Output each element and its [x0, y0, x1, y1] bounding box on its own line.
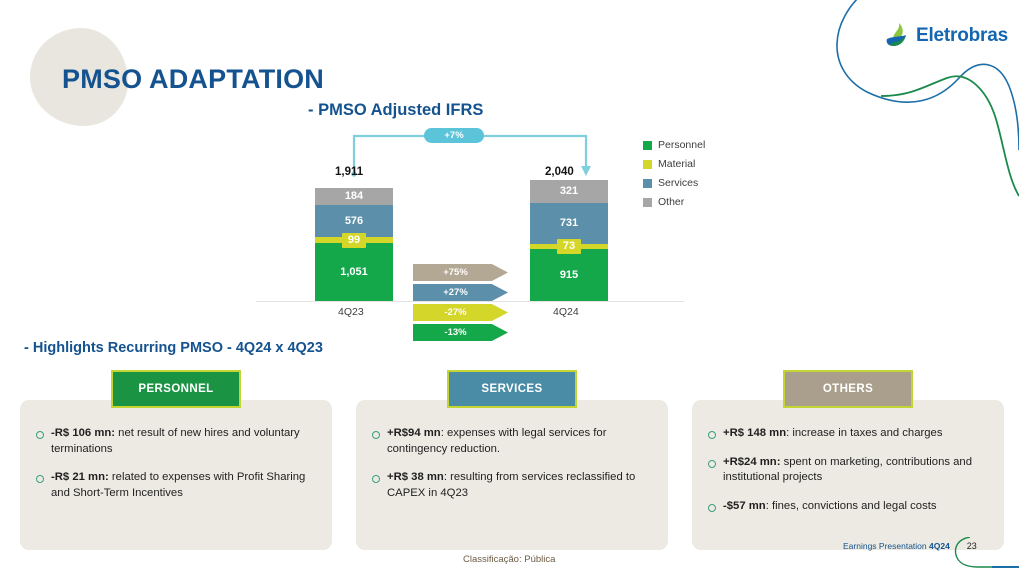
highlights-title: - Highlights Recurring PMSO - 4Q24 x 4Q2…	[24, 340, 323, 356]
bar-value-other-4q23: 184	[339, 189, 369, 204]
delta-value-material: -27%	[444, 307, 466, 318]
legend-swatch-material	[643, 160, 652, 169]
card-header-services: SERVICES	[447, 370, 577, 408]
bullet-circle-icon	[708, 504, 716, 512]
list-item: +R$24 mn: spent on marketing, contributi…	[708, 455, 986, 486]
delta-arrow-material: -27%	[413, 304, 508, 321]
bar-value-personnel-4q24: 915	[560, 270, 578, 281]
delta-arrows: +75% +27% -27% -13%	[413, 264, 508, 344]
legend-item-material: Material	[643, 158, 705, 170]
delta-arrow-personnel: -13%	[413, 324, 508, 341]
bullet-text: +R$94 mn: expenses with legal services f…	[387, 426, 650, 457]
legend-label-other: Other	[658, 196, 684, 208]
total-label-4q23: 1,911	[335, 166, 363, 178]
legend-label-personnel: Personnel	[658, 139, 705, 151]
list-item: +R$94 mn: expenses with legal services f…	[372, 426, 650, 457]
bar-value-material-4q24: 73	[557, 239, 581, 254]
bar-4q24: 321 731 73 915	[530, 180, 608, 301]
bullet-lead: +R$94 mn	[387, 427, 441, 439]
chart-plot-area: 184 576 99 1,051 321 731 73 915	[250, 186, 690, 301]
chart-legend: Personnel Material Services Other	[643, 139, 705, 215]
bullet-text: +R$24 mn: spent on marketing, contributi…	[723, 455, 986, 486]
bullet-circle-icon	[372, 475, 380, 483]
classification-note: Classificação: Pública	[463, 554, 555, 565]
bullet-circle-icon	[708, 431, 716, 439]
bar-segment-personnel-4q24: 915	[530, 249, 608, 301]
footer-presentation-quarter: 4Q24	[929, 541, 950, 551]
bullet-lead: +R$ 38 mn	[387, 471, 444, 483]
bullet-text: -$57 mn: fines, convictions and legal co…	[723, 499, 937, 515]
bullet-lead: -$57 mn	[723, 500, 766, 512]
bullet-circle-icon	[36, 431, 44, 439]
total-label-4q24: 2,040	[545, 166, 574, 178]
bar-segment-other-4q24: 321	[530, 180, 608, 203]
highlight-card-personnel: PERSONNEL -R$ 106 mn: net result of new …	[20, 370, 332, 550]
highlight-cards: PERSONNEL -R$ 106 mn: net result of new …	[20, 370, 1005, 550]
card-body-personnel: -R$ 106 mn: net result of new hires and …	[20, 400, 332, 550]
footer-presentation-label: Earnings Presentation 4Q24	[843, 541, 950, 551]
bullet-lead: -R$ 106 mn:	[51, 427, 115, 439]
bar-segment-services-4q24: 731	[530, 203, 608, 244]
footer-info: Earnings Presentation 4Q24 23	[843, 541, 977, 551]
footer-presentation-text: Earnings Presentation	[843, 541, 929, 551]
bullet-circle-icon	[36, 475, 44, 483]
bar-value-material-4q23: 99	[342, 233, 366, 248]
bullet-text: -R$ 21 mn: related to expenses with Prof…	[51, 470, 314, 501]
bar-value-personnel-4q23: 1,051	[340, 267, 368, 278]
delta-value-other: +75%	[443, 267, 468, 278]
delta-arrow-services: +27%	[413, 284, 508, 301]
list-item: +R$ 148 mn: increase in taxes and charge…	[708, 426, 986, 442]
delta-value-personnel: -13%	[444, 327, 466, 338]
chart-axis-line	[256, 301, 684, 302]
bar-4q23: 184 576 99 1,051	[315, 188, 393, 301]
highlight-card-others: OTHERS +R$ 148 mn: increase in taxes and…	[692, 370, 1004, 550]
bar-segment-personnel-4q23: 1,051	[315, 243, 393, 301]
bullet-lead: +R$24 mn:	[723, 456, 780, 468]
page-title: PMSO ADAPTATION	[62, 64, 324, 95]
bullet-lead: -R$ 21 mn:	[51, 471, 109, 483]
bullet-text: +R$ 148 mn: increase in taxes and charge…	[723, 426, 942, 442]
category-label-4q23: 4Q23	[338, 306, 364, 318]
list-item: +R$ 38 mn: resulting from services recla…	[372, 470, 650, 501]
list-item: -R$ 21 mn: related to expenses with Prof…	[36, 470, 314, 501]
legend-item-other: Other	[643, 196, 705, 208]
legend-item-services: Services	[643, 177, 705, 189]
card-header-others: OTHERS	[783, 370, 913, 408]
legend-swatch-personnel	[643, 141, 652, 150]
highlight-card-services: SERVICES +R$94 mn: expenses with legal s…	[356, 370, 668, 550]
bullet-circle-icon	[372, 431, 380, 439]
card-body-services: +R$94 mn: expenses with legal services f…	[356, 400, 668, 550]
eletrobras-flame-logo	[884, 22, 910, 50]
bar-value-services-4q24: 731	[560, 218, 578, 229]
bar-segment-other-4q23: 184	[315, 188, 393, 205]
bullet-rest: : fines, convictions and legal costs	[766, 500, 937, 512]
legend-label-services: Services	[658, 177, 698, 189]
delta-arrow-other: +75%	[413, 264, 508, 281]
category-label-4q24: 4Q24	[553, 306, 579, 318]
list-item: -R$ 106 mn: net result of new hires and …	[36, 426, 314, 457]
bar-value-services-4q23: 576	[345, 216, 363, 227]
delta-value-services: +27%	[443, 287, 468, 298]
card-header-personnel: PERSONNEL	[111, 370, 241, 408]
bar-value-other-4q24: 321	[560, 186, 578, 197]
pmso-stacked-bar-chart: +7% 1,911 2,040 184 576 99 1,051 321 731	[250, 128, 690, 323]
bullet-text: -R$ 106 mn: net result of new hires and …	[51, 426, 314, 457]
bullet-rest: : increase in taxes and charges	[786, 427, 942, 439]
bullet-circle-icon	[708, 460, 716, 468]
logo-wordmark: Eletrobras	[916, 25, 1008, 47]
bullet-lead: +R$ 148 mn	[723, 427, 786, 439]
card-body-others: +R$ 148 mn: increase in taxes and charge…	[692, 400, 1004, 550]
legend-swatch-services	[643, 179, 652, 188]
legend-swatch-other	[643, 198, 652, 207]
legend-item-personnel: Personnel	[643, 139, 705, 151]
total-growth-badge: +7%	[424, 128, 484, 143]
list-item: -$57 mn: fines, convictions and legal co…	[708, 499, 986, 515]
page-number: 23	[967, 541, 977, 551]
bullet-text: +R$ 38 mn: resulting from services recla…	[387, 470, 650, 501]
brand-logo: Eletrobras	[884, 22, 1008, 50]
chart-subtitle: - PMSO Adjusted IFRS	[308, 101, 483, 120]
legend-label-material: Material	[658, 158, 695, 170]
